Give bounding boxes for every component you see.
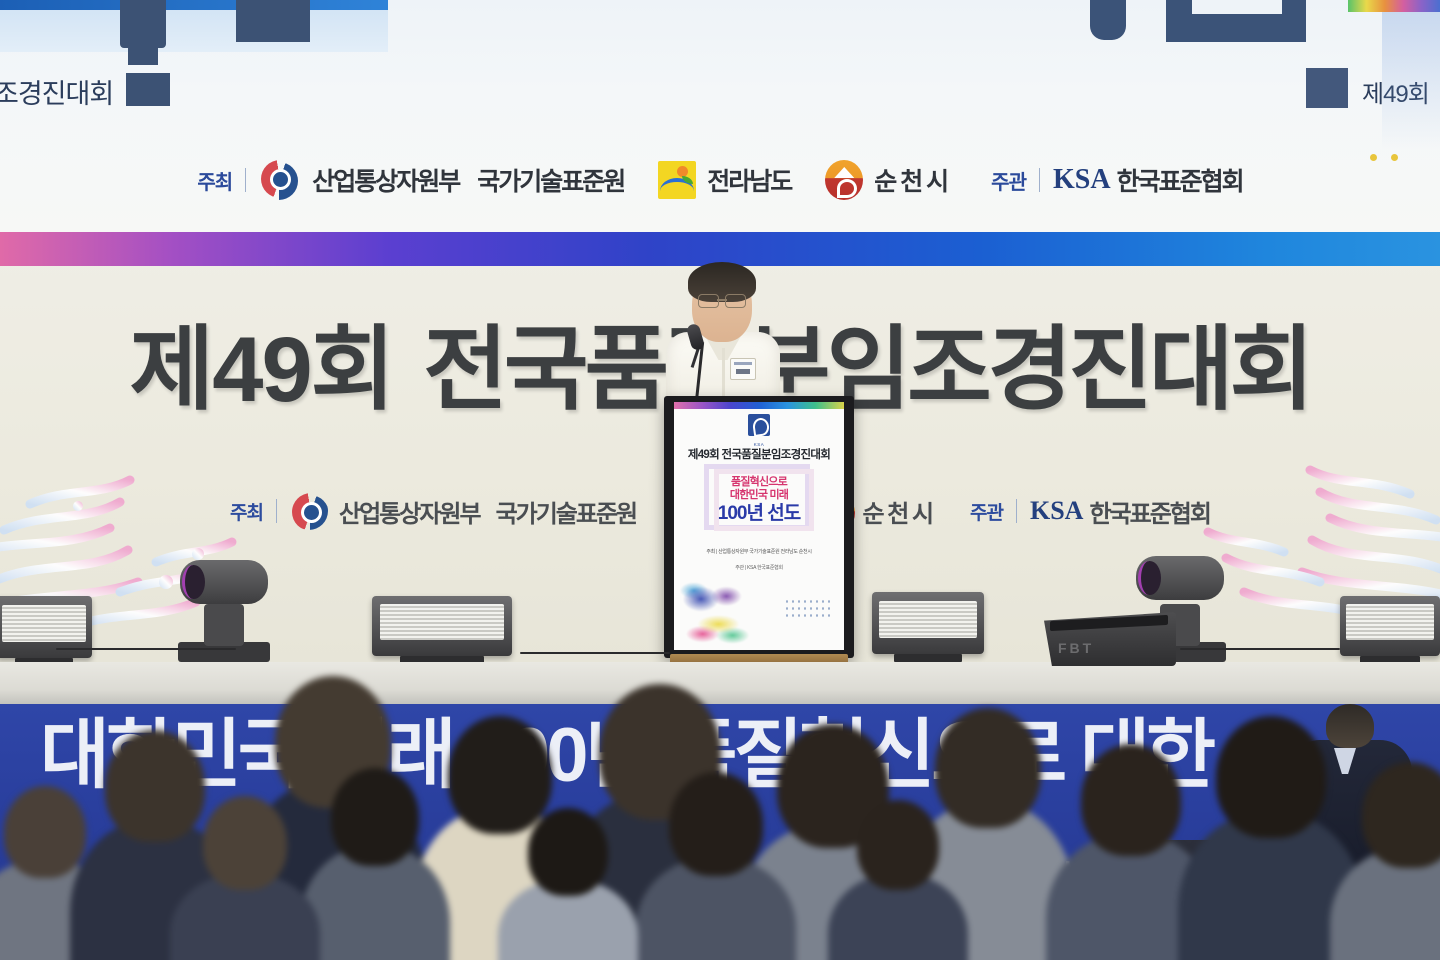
organizer-label: 주관 [991,166,1026,195]
audience-person [1330,764,1440,960]
sponsor-name-kats: 국가기술표준원 [477,162,624,198]
podium-slogan-block: 품질혁신으로 대한민국 미래 100년 선도 [704,464,814,532]
sponsor-name-kats: 국가기술표준원 [496,494,637,529]
top-screen-sponsor-row: 주최 산업통상자원부 국가기술표준원 전라남도 [0,150,1440,210]
eyeglasses-icon [698,294,746,307]
screen-glyph-shape [236,0,310,42]
screen-glyph-shape [1306,68,1348,108]
cohost-suncheon: 순 천 시 [825,160,947,200]
ksa-wordmark: KSA [1030,496,1083,526]
audience-person [300,760,450,960]
host-group: 주최 산업통상자원부 국가기술표준원 [230,492,636,530]
banner-title-text: 전국품질분임조경진대회 [423,319,1310,421]
divider [245,168,246,192]
divider [1016,499,1017,523]
audience-foreground [0,600,1440,960]
host-group: 주최 산업통상자원부 국가기술표준원 [197,159,624,201]
speaker-name-badge [730,358,756,380]
sponsor-name-ksa: 한국표준협회 [1089,494,1209,529]
podium-rainbow-bar [674,402,844,409]
screen-partial-text-left: 조경진대회 [0,72,113,111]
taegeuk-government-icon [259,159,301,201]
organizer-group: 주관 KSA 한국표준협회 [991,162,1242,198]
sponsor-name-suncheon: 순 천 시 [862,494,932,529]
jeollanamdo-icon [658,161,696,199]
audience-person [636,784,796,960]
podium-ksa-mark: KSA [674,414,844,447]
audience-person [170,810,320,960]
banner-gradient-band [0,232,1440,266]
audience-person [498,820,638,960]
taegeuk-government-icon [290,492,328,530]
screen-glyph-shape [128,48,158,65]
audience-person [828,810,968,960]
podium-event-title: 제49회 전국품질분임조경진대회 [674,446,844,462]
conference-photo: 조경진대회 제49회 주최 산업통상자원부 국가기술표준원 [0,0,1440,960]
screen-glyph-shape [1166,0,1306,42]
host-label: 주최 [230,498,263,525]
screen-corner-wash [1382,0,1440,150]
banner-title-number: 제49회 [130,319,394,421]
podium-organizer-line: 주관 | KSA 한국표준협회 [674,564,844,571]
sponsor-name-jeonnam: 전라남도 [707,162,791,198]
organizer-group: 주관 KSA 한국표준협회 [970,494,1210,529]
host-label: 주최 [197,166,232,195]
top-projection-screen: 조경진대회 제49회 주최 산업통상자원부 국가기술표준원 [0,0,1440,232]
microphone-icon [680,318,720,402]
screen-glyph-shape [126,73,170,106]
screen-glyph-shape [1090,0,1126,40]
screen-blue-strip [0,0,388,10]
screen-rainbow-strip [1348,0,1440,12]
organizer-label: 주관 [970,498,1003,525]
podium-sponsor-line: 주최 | 산업통상자원부 국가기술표준원 전라남도 순천시 [674,548,844,555]
ksa-wordmark: KSA [1053,164,1111,196]
divider [276,499,277,523]
suncheon-city-icon [825,160,863,200]
sponsor-name-motie: 산업통상자원부 [312,162,459,198]
cohost-jeonnam: 전라남도 [658,161,791,199]
sponsor-name-motie: 산업통상자원부 [339,494,480,529]
sponsor-name-ksa: 한국표준협회 [1117,162,1243,198]
divider [1039,168,1040,192]
sponsor-name-suncheon: 순 천 시 [874,162,947,198]
podium-slogan-line3: 100년 선도 [704,498,814,525]
screen-glyph-shape [120,0,166,48]
